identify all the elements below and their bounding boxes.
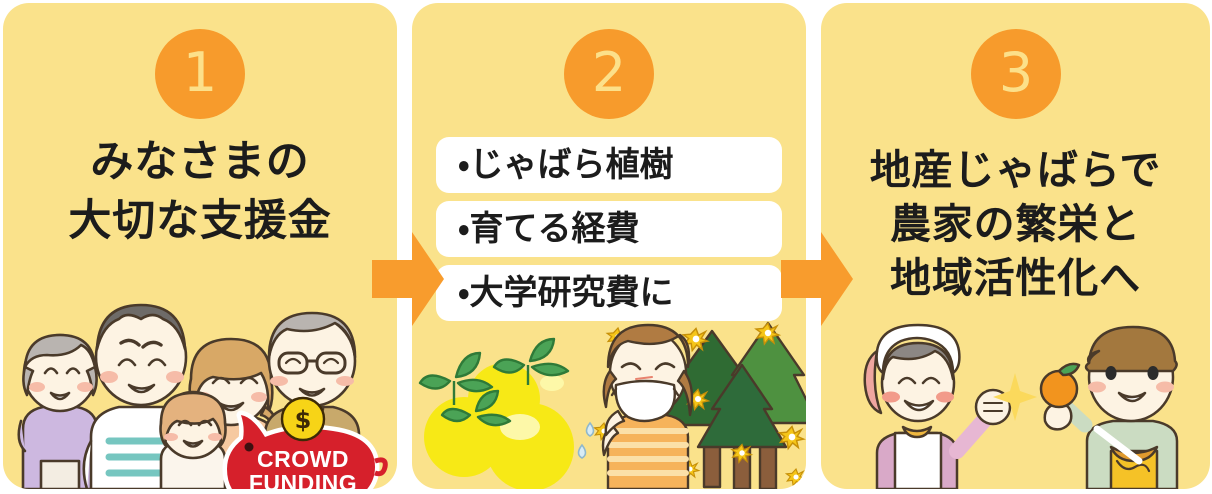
tear-drops bbox=[579, 423, 594, 458]
panel-3-headline: 地産じゃばらで 農家の繁栄と 地域活性化へ bbox=[821, 143, 1210, 305]
arrow-panel1-to-panel2 bbox=[372, 232, 444, 326]
step-number-badge-2: 2 bbox=[564, 29, 654, 119]
child-figure bbox=[161, 392, 226, 489]
family-and-piggy-bank-illustration: $ CROWD FUNDING bbox=[3, 261, 397, 489]
bullet-item-2: ・育てる経費 bbox=[436, 201, 782, 257]
step-number-badge-3: 3 bbox=[971, 29, 1061, 119]
panel-3-headline-line-3: 地域活性化へ bbox=[821, 251, 1210, 305]
step-number-1: 1 bbox=[183, 46, 217, 100]
panel-1-headline-line-2: 大切な支援金 bbox=[3, 192, 397, 251]
bullet-item-2-label: ・育てる経費 bbox=[458, 212, 640, 246]
panel-3-headline-line-2: 農家の繁栄と bbox=[821, 197, 1210, 251]
svg-text:FUNDING: FUNDING bbox=[249, 470, 357, 489]
bullet-item-1: ・じゃばら植樹 bbox=[436, 137, 782, 193]
panel-2-bullet-list: ・じゃばら植樹 ・育てる経費 ・大学研究費に bbox=[436, 137, 782, 321]
step-number-2: 2 bbox=[592, 46, 626, 100]
step-panel-1: 1 みなさまの 大切な支援金 bbox=[3, 3, 397, 489]
bullet-item-3: ・大学研究費に bbox=[436, 265, 782, 321]
arrow-panel2-to-panel3 bbox=[781, 232, 853, 326]
panel-3-headline-line-1: 地産じゃばらで bbox=[821, 143, 1210, 197]
panel-1-headline-line-1: みなさまの bbox=[3, 133, 397, 192]
panel-1-headline: みなさまの 大切な支援金 bbox=[3, 133, 397, 252]
bullet-item-1-label: ・じゃばら植樹 bbox=[458, 148, 674, 182]
step-panel-3: 3 地産じゃばらで 農家の繁栄と 地域活性化へ bbox=[821, 3, 1210, 489]
step-number-3: 3 bbox=[999, 46, 1033, 100]
step-panel-2: 2 ・じゃばら植樹 ・育てる経費 ・大学研究費に bbox=[412, 3, 806, 489]
svg-text:CROWD: CROWD bbox=[257, 446, 349, 472]
jabara-mask-woman-trees-illustration bbox=[412, 319, 806, 489]
female-farmer-figure bbox=[865, 325, 1010, 489]
infographic-canvas: 1 みなさまの 大切な支援金 bbox=[0, 0, 1212, 494]
svg-text:$: $ bbox=[295, 406, 312, 434]
step-number-badge-1: 1 bbox=[155, 29, 245, 119]
bullet-item-3-label: ・大学研究費に bbox=[458, 276, 674, 310]
two-farmers-illustration bbox=[821, 321, 1210, 489]
male-farmer-figure bbox=[1041, 327, 1177, 489]
